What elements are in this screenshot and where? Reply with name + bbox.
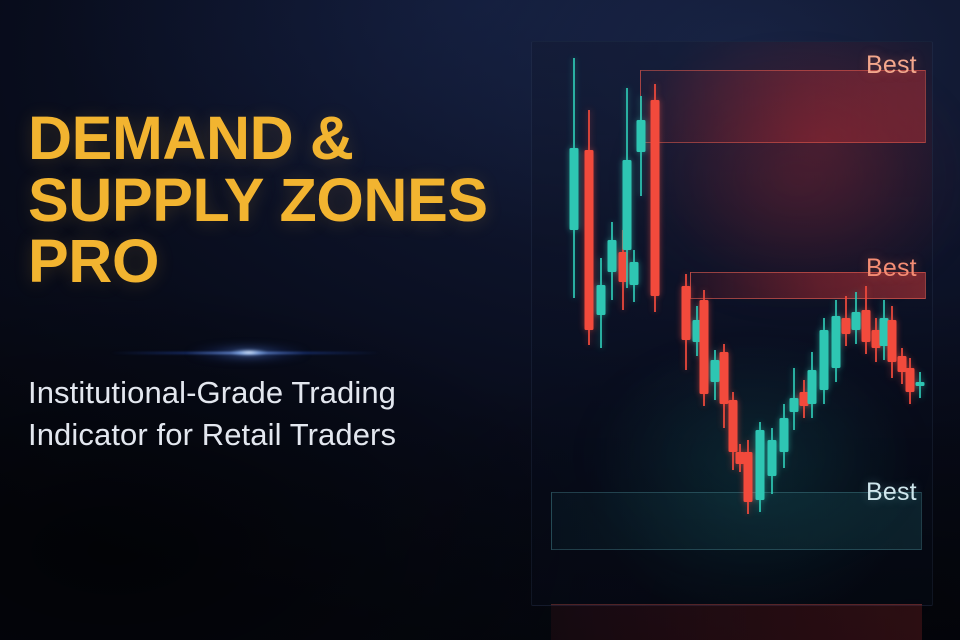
supply-zone-2-label: Best (866, 254, 917, 283)
candlestick-series (0, 0, 960, 640)
supply-zone-1-label: Best (866, 51, 917, 80)
hero-banner: DEMAND & SUPPLY ZONES PRO Institutional-… (0, 0, 960, 640)
demand-zone-1-label: Best (866, 478, 917, 507)
